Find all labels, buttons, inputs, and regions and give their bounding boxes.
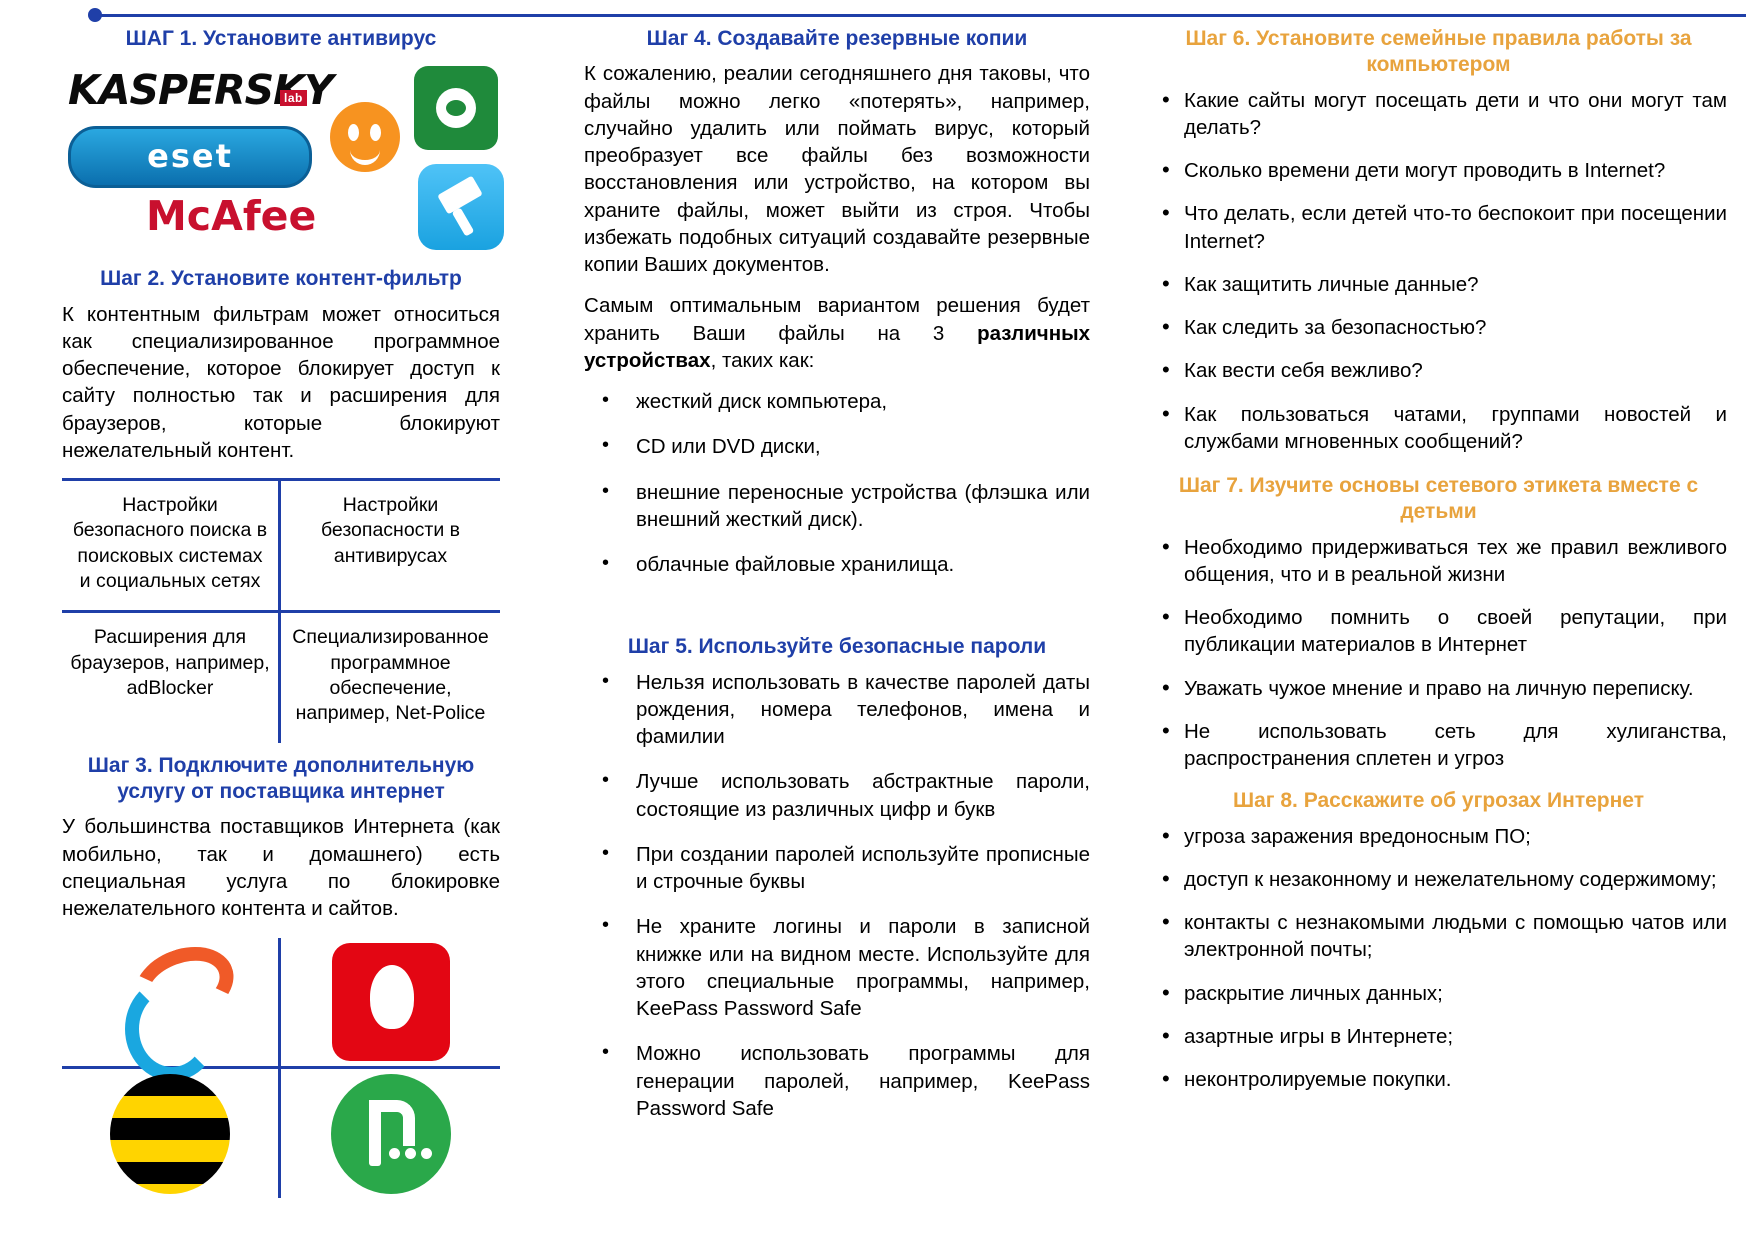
mcafee-logo: McAfee — [146, 192, 316, 240]
beeline-logo — [110, 1074, 230, 1194]
left-column: ШАГ 1. Установите антивирус KASPERSKY la… — [0, 26, 560, 1198]
ccleaner-logo — [418, 164, 504, 250]
list-item: Лучше использовать абстрактные пароли, с… — [584, 768, 1090, 823]
step1-title: ШАГ 1. Установите антивирус — [62, 26, 500, 52]
list-item: неконтролируемые покупки. — [1150, 1066, 1727, 1093]
list-item: Что делать, если детей что-то беспокоит … — [1150, 200, 1727, 255]
list-item: внешние переносные устройства (флэшка ил… — [584, 479, 1090, 534]
step4-paragraph-1: К сожалению, реалии сегодняшнего дня так… — [584, 60, 1090, 278]
list-item: Не использовать сеть для хулиганства, ра… — [1150, 718, 1727, 773]
avast-logo — [330, 102, 404, 176]
list-item: раскрытие личных данных; — [1150, 980, 1727, 1007]
list-item: Как пользоваться чатами, группами новост… — [1150, 401, 1727, 456]
list-item: Как следить за безопасностью? — [1150, 314, 1727, 341]
provider-cell-mts — [281, 938, 500, 1069]
kaspersky-lab-badge: lab — [280, 90, 307, 106]
list-item: Сколько времени дети могут проводить в I… — [1150, 157, 1727, 184]
list-item: Уважать чужое мнение и право на личную п… — [1150, 675, 1727, 702]
megafon-dot3-icon — [421, 1148, 432, 1159]
eset-logo: eset — [68, 126, 312, 188]
step4-paragraph-2: Самым оптимальным вариантом решения буде… — [584, 292, 1090, 374]
drweb-spider-icon — [436, 88, 476, 128]
mts-egg-icon — [370, 965, 414, 1029]
step4-paragraph-2-post: , таких как: — [711, 349, 815, 372]
header-rule — [96, 14, 1746, 17]
provider-logos-table — [62, 938, 500, 1198]
step2-paragraph: К контентным фильтрам может относиться к… — [62, 301, 500, 465]
list-item: доступ к незаконному и нежелательному со… — [1150, 866, 1727, 893]
ccleaner-handle-icon — [452, 208, 475, 237]
step7-list: Необходимо придерживаться тех же правил … — [1150, 534, 1727, 773]
list-item: угроза заражения вредоносным ПО; — [1150, 823, 1727, 850]
step5-title: Шаг 5. Используйте безопасные пароли — [584, 634, 1090, 660]
middle-column: Шаг 4. Создавайте резервные копии К сожа… — [560, 26, 1120, 1140]
megafon-hook-icon — [369, 1100, 415, 1146]
columns-container: ШАГ 1. Установите антивирус KASPERSKY la… — [0, 26, 1755, 1198]
step4-title: Шаг 4. Создавайте резервные копии — [584, 26, 1090, 52]
rostelecom-blue-arc-icon — [125, 977, 219, 1081]
list-item: Необходимо помнить о своей репутации, пр… — [1150, 604, 1727, 659]
list-item: контакты с незнакомыми людьми с помощью … — [1150, 909, 1727, 964]
step5-list: Нельзя использовать в качестве паролей д… — [584, 669, 1090, 1123]
step8-title: Шаг 8. Расскажите об угрозах Интернет — [1150, 788, 1727, 814]
list-item: Как защитить личные данные? — [1150, 271, 1727, 298]
list-item: Нельзя использовать в качестве паролей д… — [584, 669, 1090, 751]
list-item: жесткий диск компьютера, — [584, 388, 1090, 415]
rostelecom-logo — [115, 947, 225, 1057]
list-item: Можно использовать программы для генерац… — [584, 1040, 1090, 1122]
list-item: CD или DVD диски, — [584, 433, 1090, 460]
step2-title: Шаг 2. Установите контент-фильтр — [62, 266, 500, 292]
content-filter-table: Настройки безопасного поиска в поисковых… — [62, 478, 500, 743]
brochure-page: ШАГ 1. Установите антивирус KASPERSKY la… — [0, 0, 1755, 1241]
table-cell-special-software: Специализированное программное обеспечен… — [281, 613, 500, 742]
step3-paragraph: У большинства поставщиков Интернета (как… — [62, 813, 500, 922]
megafon-dot1-icon — [389, 1148, 400, 1159]
provider-cell-rostelecom — [62, 938, 281, 1069]
step6-title: Шаг 6. Установите семейные правила работ… — [1150, 26, 1727, 79]
list-item: облачные файловые хранилища. — [584, 551, 1090, 578]
right-column: Шаг 6. Установите семейные правила работ… — [1120, 26, 1755, 1109]
list-item: При создании паролей используйте прописн… — [584, 841, 1090, 896]
eset-logo-text: eset — [71, 137, 309, 175]
list-item: Как вести себя вежливо? — [1150, 357, 1727, 384]
drweb-logo — [414, 66, 498, 150]
antivirus-logos: KASPERSKY lab eset McAfee — [62, 60, 500, 260]
list-item: Необходимо придерживаться тех же правил … — [1150, 534, 1727, 589]
table-cell-search-settings: Настройки безопасного поиска в поисковых… — [62, 478, 281, 613]
mts-logo — [332, 943, 450, 1061]
megafon-logo — [331, 1074, 451, 1194]
list-item: азартные игры в Интернете; — [1150, 1023, 1727, 1050]
list-item: Не храните логины и пароли в записной кн… — [584, 913, 1090, 1022]
step7-title: Шаг 7. Изучите основы сетевого этикета в… — [1150, 473, 1727, 526]
step3-title: Шаг 3. Подключите дополнительную услугу … — [62, 753, 500, 806]
step8-list: угроза заражения вредоносным ПО; доступ … — [1150, 823, 1727, 1094]
table-cell-antivirus-settings: Настройки безопасности в антивирусах — [281, 478, 500, 613]
step6-list: Какие сайты могут посещать дети и что он… — [1150, 87, 1727, 456]
megafon-dot2-icon — [405, 1148, 416, 1159]
list-item: Какие сайты могут посещать дети и что он… — [1150, 87, 1727, 142]
provider-cell-beeline — [62, 1069, 281, 1199]
provider-cell-megafon — [281, 1069, 500, 1199]
table-cell-browser-extensions: Расширения для браузеров, например, adBl… — [62, 613, 281, 742]
step4-list: жесткий диск компьютера, CD или DVD диск… — [584, 388, 1090, 578]
